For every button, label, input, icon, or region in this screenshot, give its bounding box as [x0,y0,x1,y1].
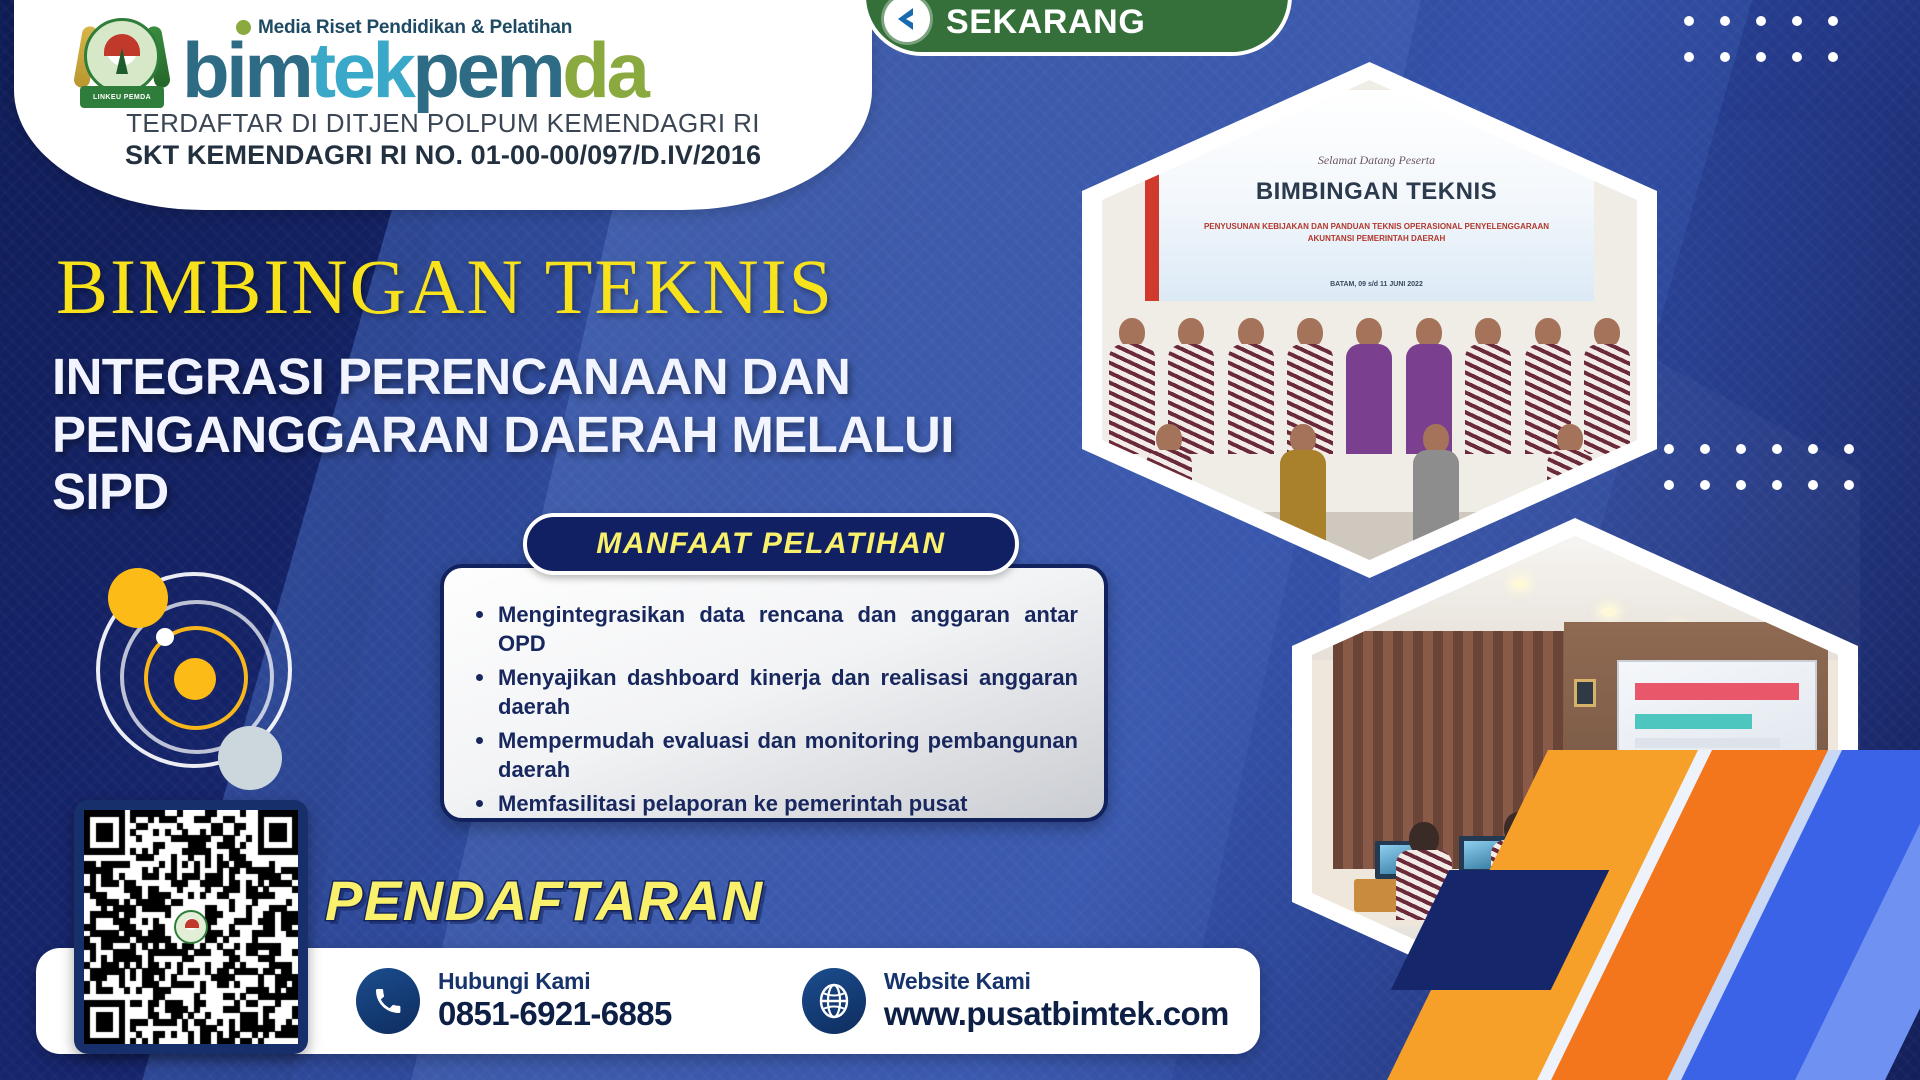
decor-dot [1736,480,1746,490]
logo-row: LINKEU PEMDA Media Riset Pendidikan & Pe… [76,14,646,110]
hex-white-border [1292,518,1858,1030]
wordmark-part-pem: pem [412,26,562,114]
decor-dot [1720,52,1730,62]
decor-dot [1664,480,1674,490]
decor-dot [1736,444,1746,454]
event-banner: Selamat Datang Peserta BIMBINGAN TEKNIS … [1145,90,1594,301]
daftar-sekarang-label: DAFTAR SEKARANG [946,0,1262,42]
contact-website[interactable]: Website Kami www.pusatbimtek.com [802,968,1229,1034]
benefits-card: Mengintegrasikan data rencana dan anggar… [440,564,1108,822]
crest-ribbon-label: LINKEU PEMDA [93,94,151,101]
contact-phone-value: 0851-6921-6885 [438,995,672,1034]
brand-logo-panel: LINKEU PEMDA Media Riset Pendidikan & Pe… [14,0,872,210]
poster-canvas: Selamat Datang Peserta BIMBINGAN TEKNIS … [0,0,1920,1080]
daftar-sekarang-button[interactable]: DAFTAR SEKARANG [862,0,1292,56]
hex-photo-clip [1312,536,1838,1012]
registration-qr-code[interactable] [84,810,298,1044]
decor-dot [1792,52,1802,62]
decor-dot [1808,444,1818,454]
classroom-photo-hexagon [1292,518,1858,1030]
brand-wordmark: bimtekpemda [182,33,646,107]
orbit-node-core [174,658,216,700]
wordmark-block: Media Riset Pendidikan & Pelatihan bimte… [182,17,646,107]
hex-photo-clip: Selamat Datang Peserta BIMBINGAN TEKNIS … [1102,80,1637,560]
benefit-item: Mengintegrasikan data rencana dan anggar… [474,600,1078,659]
decor-dot [1792,16,1802,26]
decor-dot [1664,444,1674,454]
benefits-header-label: MANFAAT PELATIHAN [596,527,945,561]
banner-subtitle-text: PENYUSUNAN KEBIJAKAN DAN PANDUAN TEKNIS … [1185,221,1568,245]
projection-screen [1617,660,1817,784]
decor-dot [1756,16,1766,26]
decor-dot [1684,16,1694,26]
pemda-crest-icon: LINKEU PEMDA [76,14,168,110]
wordmark-part-tek: tek [310,26,412,114]
orbit-node-grey [218,726,282,790]
decor-dot [1684,52,1694,62]
registration-heading: PENDAFTARAN [325,868,764,933]
banner-script-text: Selamat Datang Peserta [1159,153,1594,168]
decor-dot-grid-middle [1664,444,1854,490]
wordmark-part-da: da [562,26,646,114]
decor-dot [1828,16,1838,26]
hex-white-border: Selamat Datang Peserta BIMBINGAN TEKNIS … [1082,62,1657,578]
benefit-item: Menyajikan dashboard kinerja dan realisa… [474,663,1078,722]
decor-dot [1700,444,1710,454]
contact-website-text: Website Kami www.pusatbimtek.com [884,968,1229,1033]
decor-dot [1772,444,1782,454]
person [1145,424,1193,560]
chevron-left-icon [884,0,930,42]
contact-phone[interactable]: Hubungi Kami 0851-6921-6885 [356,968,672,1034]
group-photo-hexagon: Selamat Datang Peserta BIMBINGAN TEKNIS … [1082,62,1657,578]
banner-title-text: BIMBINGAN TEKNIS [1159,178,1594,206]
decor-dot [1844,444,1854,454]
registration-line-1: TERDAFTAR DI DITJEN POLPUM KEMENDAGRI RI [14,108,872,139]
phone-icon [356,968,420,1034]
decor-dot [1772,480,1782,490]
decor-dot [1844,480,1854,490]
orbit-graphic [78,548,328,798]
globe-icon [802,968,866,1034]
orbit-node-large [108,568,168,628]
decor-dot [1808,480,1818,490]
decor-dot [1700,480,1710,490]
contact-phone-label: Hubungi Kami [438,968,590,994]
registration-qr-frame[interactable] [74,800,308,1054]
contact-website-label: Website Kami [884,968,1031,994]
wall-portrait [1574,679,1596,707]
contact-phone-text: Hubungi Kami 0851-6921-6885 [438,968,672,1033]
contact-website-value: www.pusatbimtek.com [884,995,1229,1034]
benefits-header-pill: MANFAAT PELATIHAN [523,513,1019,575]
banner-date-text: BATAM, 09 s/d 11 JUNI 2022 [1159,281,1594,288]
decor-dot [1756,52,1766,62]
page-eyebrow-title: BIMBINGAN TEKNIS [56,248,834,326]
decor-dot [1720,16,1730,26]
benefit-item: Mempermudah evaluasi dan monitoring pemb… [474,726,1078,785]
benefits-list: Mengintegrasikan data rencana dan anggar… [474,600,1078,818]
benefit-item: Memfasilitasi pelaporan ke pemerintah pu… [474,789,1078,818]
decor-dot [1828,52,1838,62]
decor-dot-grid-top [1684,16,1838,62]
banner-crest-icon [1543,102,1577,140]
group-photo-scene: Selamat Datang Peserta BIMBINGAN TEKNIS … [1102,80,1637,560]
wordmark-part-bim: bim [182,26,310,114]
orbit-node-small [156,628,174,646]
page-title: INTEGRASI PERENCANAAN DAN PENGANGGARAN D… [52,348,1072,521]
qr-center-crest-icon [174,910,208,944]
classroom-scene [1312,536,1838,1012]
registration-line-2: SKT KEMENDAGRI RI NO. 01-00-00/097/D.IV/… [14,140,872,171]
